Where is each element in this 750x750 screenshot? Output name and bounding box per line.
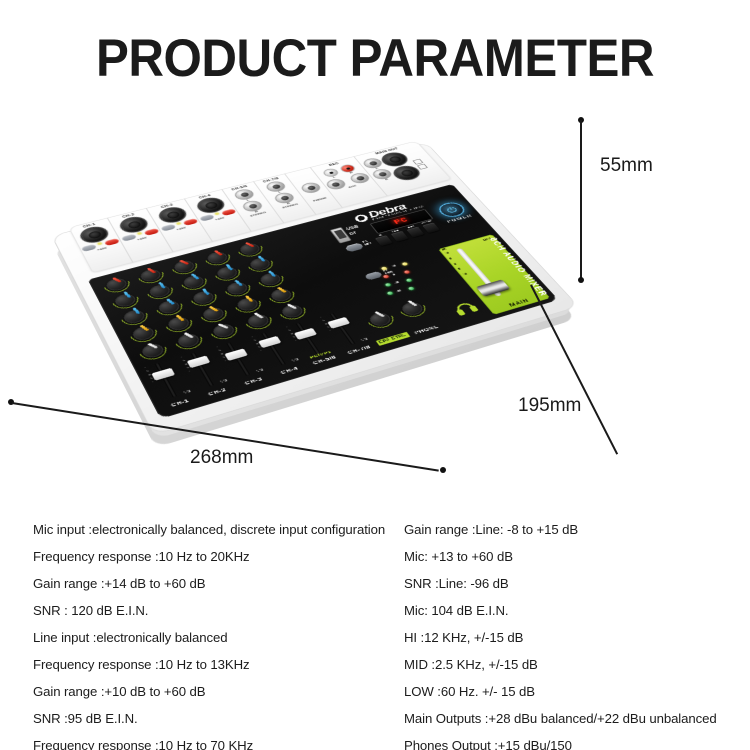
channel-label-ch1: CH-1 <box>161 396 199 411</box>
headphones-icon <box>453 301 480 317</box>
transport-prev-button[interactable]: I◀◀ <box>391 231 409 242</box>
brand-mark-icon <box>353 213 370 222</box>
spec-line: LOW :60 Hz. +/- 15 dB <box>404 678 744 705</box>
rear-bottom-label-phone: PHONE <box>306 195 333 204</box>
spec-line: Line input :electronically balanced <box>33 624 403 651</box>
spec-line: Gain range :Line: -8 to +15 dB <box>404 516 744 543</box>
product-image: CH-1 +48V CH-2 <box>0 95 750 515</box>
spec-column-right: Gain range :Line: -8 to +15 dB Mic: +13 … <box>404 516 744 750</box>
spec-line: Main Outputs :+28 dBu balanced/+22 dBu u… <box>404 705 744 732</box>
spec-line: Gain range :+14 dB to +60 dB <box>33 570 403 597</box>
dimension-height-label: 55mm <box>600 155 653 177</box>
channel-label-ch3: CH-3 <box>235 374 272 389</box>
source-select-button[interactable] <box>345 242 365 252</box>
channel-label-ch2: CH-2 <box>199 385 236 400</box>
transport-next-button[interactable]: ▶▶I <box>407 227 425 238</box>
usb-label: USB <box>345 225 360 232</box>
bluetooth-label: BT <box>349 231 358 236</box>
spec-line: SNR : 120 dB E.I.N. <box>33 597 403 624</box>
phantom-led-ch4 <box>214 212 219 215</box>
product-parameter-page: PRODUCT PARAMETER CH-1 <box>0 0 750 750</box>
lcd-value: PC <box>392 217 410 227</box>
spec-line: Mic: +13 to +60 dB <box>404 543 744 570</box>
page-title: PRODUCT PARAMETER <box>26 28 724 89</box>
spec-line: Frequency response :10 Hz to 13KHz <box>33 651 403 678</box>
spec-line: SNR :Line: -96 dB <box>404 570 744 597</box>
spec-line: Gain range :+10 dB to +60 dB <box>33 678 403 705</box>
channel-label-ch4: CH-4 <box>271 364 307 378</box>
phone-jack[interactable] <box>300 182 321 194</box>
spec-line: MID :2.5 KHz, +/-15 dB <box>404 651 744 678</box>
eff-ctrl-label: EFF CTRL <box>376 332 410 346</box>
dimension-depth-label: 195mm <box>518 395 581 417</box>
main-fader-handle[interactable] <box>476 279 510 296</box>
dimension-width-label: 268mm <box>190 447 253 469</box>
mode-bt-button[interactable]: MODE/BT <box>422 223 440 234</box>
spec-line: Mic: 104 dB E.I.N. <box>404 597 744 624</box>
spec-column-left: Mic input :electronically balanced, disc… <box>33 516 403 750</box>
channel-label-ch78: CH-7/8 <box>342 343 377 357</box>
spec-line: Mic input :electronically balanced, disc… <box>33 516 403 543</box>
phone-label: PHONE <box>409 323 444 337</box>
source-select-label: PC MP3 <box>362 239 373 246</box>
spec-line: HI :12 KHz, +/-15 dB <box>404 624 744 651</box>
phantom-led-ch3 <box>176 222 181 225</box>
phantom-led-ch1 <box>97 242 102 245</box>
power-icon: ⏻ <box>445 205 459 214</box>
transport-play-button[interactable]: I◀ <box>375 235 393 246</box>
phantom-led-ch2 <box>137 232 142 235</box>
dc-socket-icon <box>417 164 428 170</box>
spec-line: Frequency response :10 Hz to 20KHz <box>33 543 403 570</box>
spec-line: Phones Output :+15 dBu/150 <box>404 732 744 750</box>
spec-line: SNR :95 dB E.I.N. <box>33 705 403 732</box>
audio-mixer-device: CH-1 +48V CH-2 <box>52 143 577 435</box>
spec-line: Frequency response :10 Hz to 70 KHz <box>33 732 403 750</box>
